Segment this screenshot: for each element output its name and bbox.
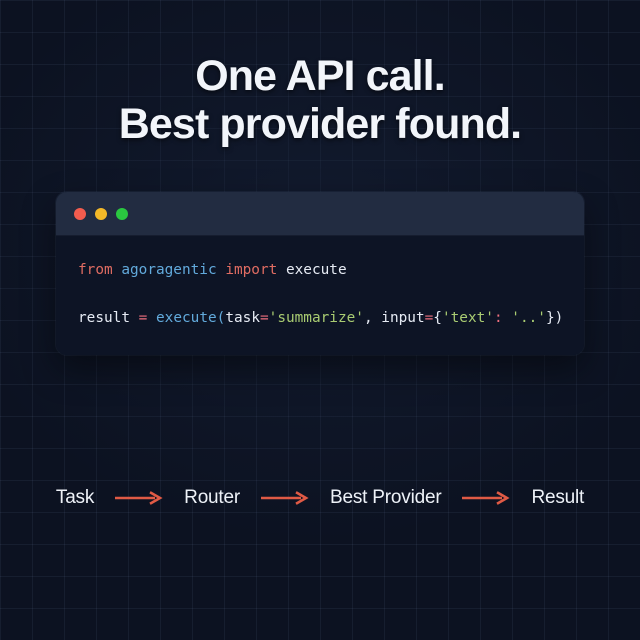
headline-line-2: Best provider found.	[0, 100, 640, 148]
code-space-5	[147, 310, 156, 326]
code-space-2	[217, 262, 226, 278]
flow-step-result: Result	[531, 487, 584, 509]
code-block: from agoragentic import executeresult = …	[56, 236, 584, 355]
code-comma: ,	[364, 310, 381, 326]
page-title: One API call. Best provider found.	[0, 52, 640, 148]
flow-step-router: Router	[184, 487, 240, 509]
code-close-paren: )	[555, 310, 564, 326]
maximize-dot[interactable]	[116, 208, 128, 220]
code-dict-value: '..'	[511, 310, 546, 326]
code-window-titlebar	[56, 192, 584, 236]
flow-arrow-3	[461, 490, 511, 506]
code-arg-input: input	[381, 310, 424, 326]
code-variable-result: result	[78, 310, 130, 326]
flow-step-best-provider: Best Provider	[330, 487, 441, 509]
code-imported-symbol: execute	[286, 262, 347, 278]
code-blank-line	[78, 279, 562, 310]
code-dict-open-brace: {	[433, 310, 442, 326]
code-function-execute: execute	[156, 310, 217, 326]
code-space-3	[277, 262, 286, 278]
code-window: from agoragentic import executeresult = …	[56, 192, 584, 355]
headline-line-1: One API call.	[0, 52, 640, 100]
code-line-1: from agoragentic import execute	[78, 262, 562, 279]
flow-arrow-2	[260, 490, 310, 506]
code-dict-colon: :	[494, 310, 503, 326]
code-arg-task-eq: =	[260, 310, 269, 326]
flow-arrow-1	[114, 490, 164, 506]
code-dict-close-brace: }	[546, 310, 555, 326]
code-module-name: agoragentic	[121, 262, 216, 278]
code-arg-task: task	[225, 310, 260, 326]
close-dot[interactable]	[74, 208, 86, 220]
flow-step-task: Task	[56, 487, 94, 509]
code-arg-input-eq: =	[425, 310, 434, 326]
minimize-dot[interactable]	[95, 208, 107, 220]
code-keyword-import: import	[225, 262, 277, 278]
code-space-6	[503, 310, 512, 326]
code-space-4	[130, 310, 139, 326]
code-dict-key: 'text'	[442, 310, 494, 326]
code-keyword-from: from	[78, 262, 113, 278]
flow-diagram: Task Router Best Provider Result	[0, 487, 640, 509]
code-line-2: result = execute(task='summarize', input…	[78, 310, 562, 327]
code-arg-task-value: 'summarize'	[269, 310, 364, 326]
